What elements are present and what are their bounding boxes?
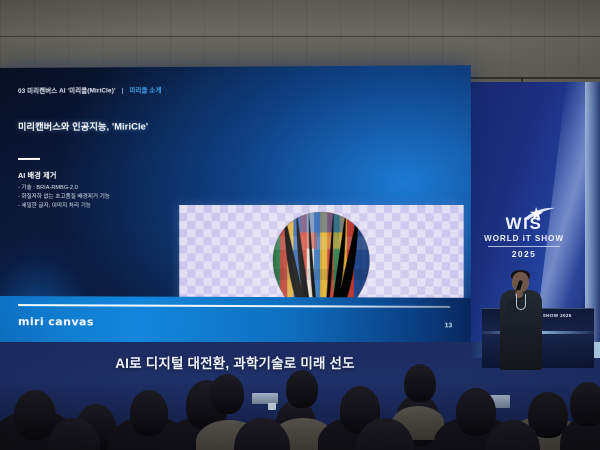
slide-title-divider	[18, 158, 40, 160]
presentation-screen: 03 미리캔버스 AI '미리클(MiriCle)' | 미리클 소개 미리캔버…	[0, 65, 471, 345]
slide-bullet-list: - 기술 : BRIA-RMBG-2.0 - 화질저하 없는 초고품질 배경제거…	[18, 184, 110, 212]
venue-banner-text: AI로 디지털 대전환, 과학기술로 미래 선도	[0, 352, 470, 372]
ceiling-seam-upper	[0, 36, 600, 37]
footer-rule	[18, 304, 450, 307]
speaker-presenter	[496, 272, 548, 370]
list-item: - 세밀한 글자, 이미지 처리 기능	[18, 202, 110, 211]
conference-photo-scene: WIS WORLD iT SHOW 2025 03 미리캔버스 AI '미리클(…	[0, 0, 600, 450]
slide-breadcrumb-separator: |	[117, 87, 127, 94]
speaker-lanyard	[516, 294, 526, 310]
list-item: - 화질저하 없는 초고품질 배경제거 기능	[18, 193, 110, 202]
slide-subsection-label: 미리클 소개	[129, 87, 161, 94]
wis-logo-sub: WORLD iT SHOW	[478, 234, 570, 243]
miricanvas-brand-logo: miri canvas	[18, 315, 94, 328]
wis-logo-year: 2025	[478, 249, 570, 259]
slide-footer-bar: miri canvas 13	[0, 296, 471, 345]
slide-feature-heading: AI 배경 제거	[18, 171, 57, 181]
slide-section-label: 03 미리캔버스 AI '미리클(MiriCle)'	[18, 87, 116, 94]
slide-breadcrumb: 03 미리캔버스 AI '미리클(MiriCle)' | 미리클 소개	[18, 85, 162, 95]
wis-swoosh-star-icon	[522, 207, 556, 221]
slide-title: 미리캔버스와 인공지능, 'MiriCle'	[18, 118, 148, 132]
list-item: - 기술 : BRIA-RMBG-2.0	[18, 184, 110, 193]
slide-page-number: 13	[445, 322, 453, 329]
wis-logo: WIS WORLD iT SHOW 2025	[478, 216, 570, 259]
wis-logo-rule	[488, 246, 560, 247]
